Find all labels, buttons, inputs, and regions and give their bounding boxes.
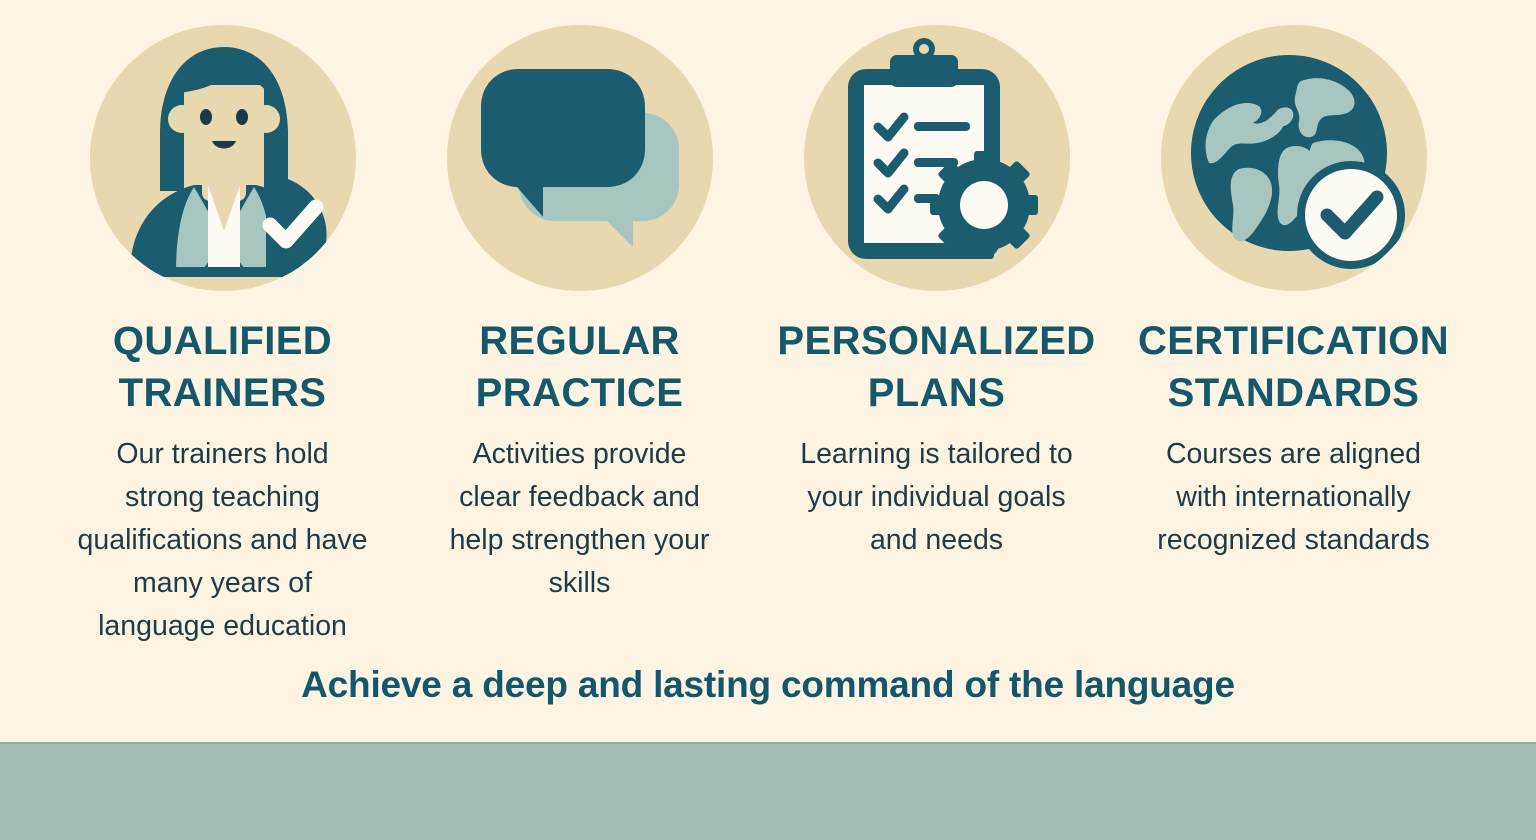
card-title: REGULAR PRACTICE (415, 315, 745, 419)
card-title: QUALIFIED TRAINERS (58, 315, 388, 419)
trainer-avatar-icon (90, 25, 356, 291)
card-body: Learning is tailored to your individual … (796, 433, 1078, 562)
clipboard-checklist-gear-icon (804, 25, 1070, 291)
card-body: Courses are aligned with internationally… (1138, 433, 1450, 562)
globe-check-badge-icon (1161, 25, 1427, 291)
card-body: Activities provide clear feedback and he… (440, 433, 720, 605)
tagline: Achieve a deep and lasting command of th… (0, 655, 1536, 715)
card-title: PERSONALIZED PLANS (772, 315, 1102, 419)
feature-card-regular-practice: REGULAR PRACTICE Activities provide clea… (401, 0, 758, 605)
speech-bubbles-icon (447, 25, 713, 291)
feature-columns: QUALIFIED TRAINERS Our trainers hold str… (0, 0, 1536, 650)
feature-card-personalized-plans: PERSONALIZED PLANS Learning is tailored … (758, 0, 1115, 562)
infographic-root: QUALIFIED TRAINERS Our trainers hold str… (0, 0, 1536, 840)
feature-card-qualified-trainers: QUALIFIED TRAINERS Our trainers hold str… (44, 0, 401, 648)
feature-card-certification-standards: CERTIFICATION STANDARDS Courses are alig… (1115, 0, 1472, 562)
card-title: CERTIFICATION STANDARDS (1129, 315, 1459, 419)
bottom-band (0, 742, 1536, 840)
card-body: Our trainers hold strong teaching qualif… (77, 433, 369, 648)
